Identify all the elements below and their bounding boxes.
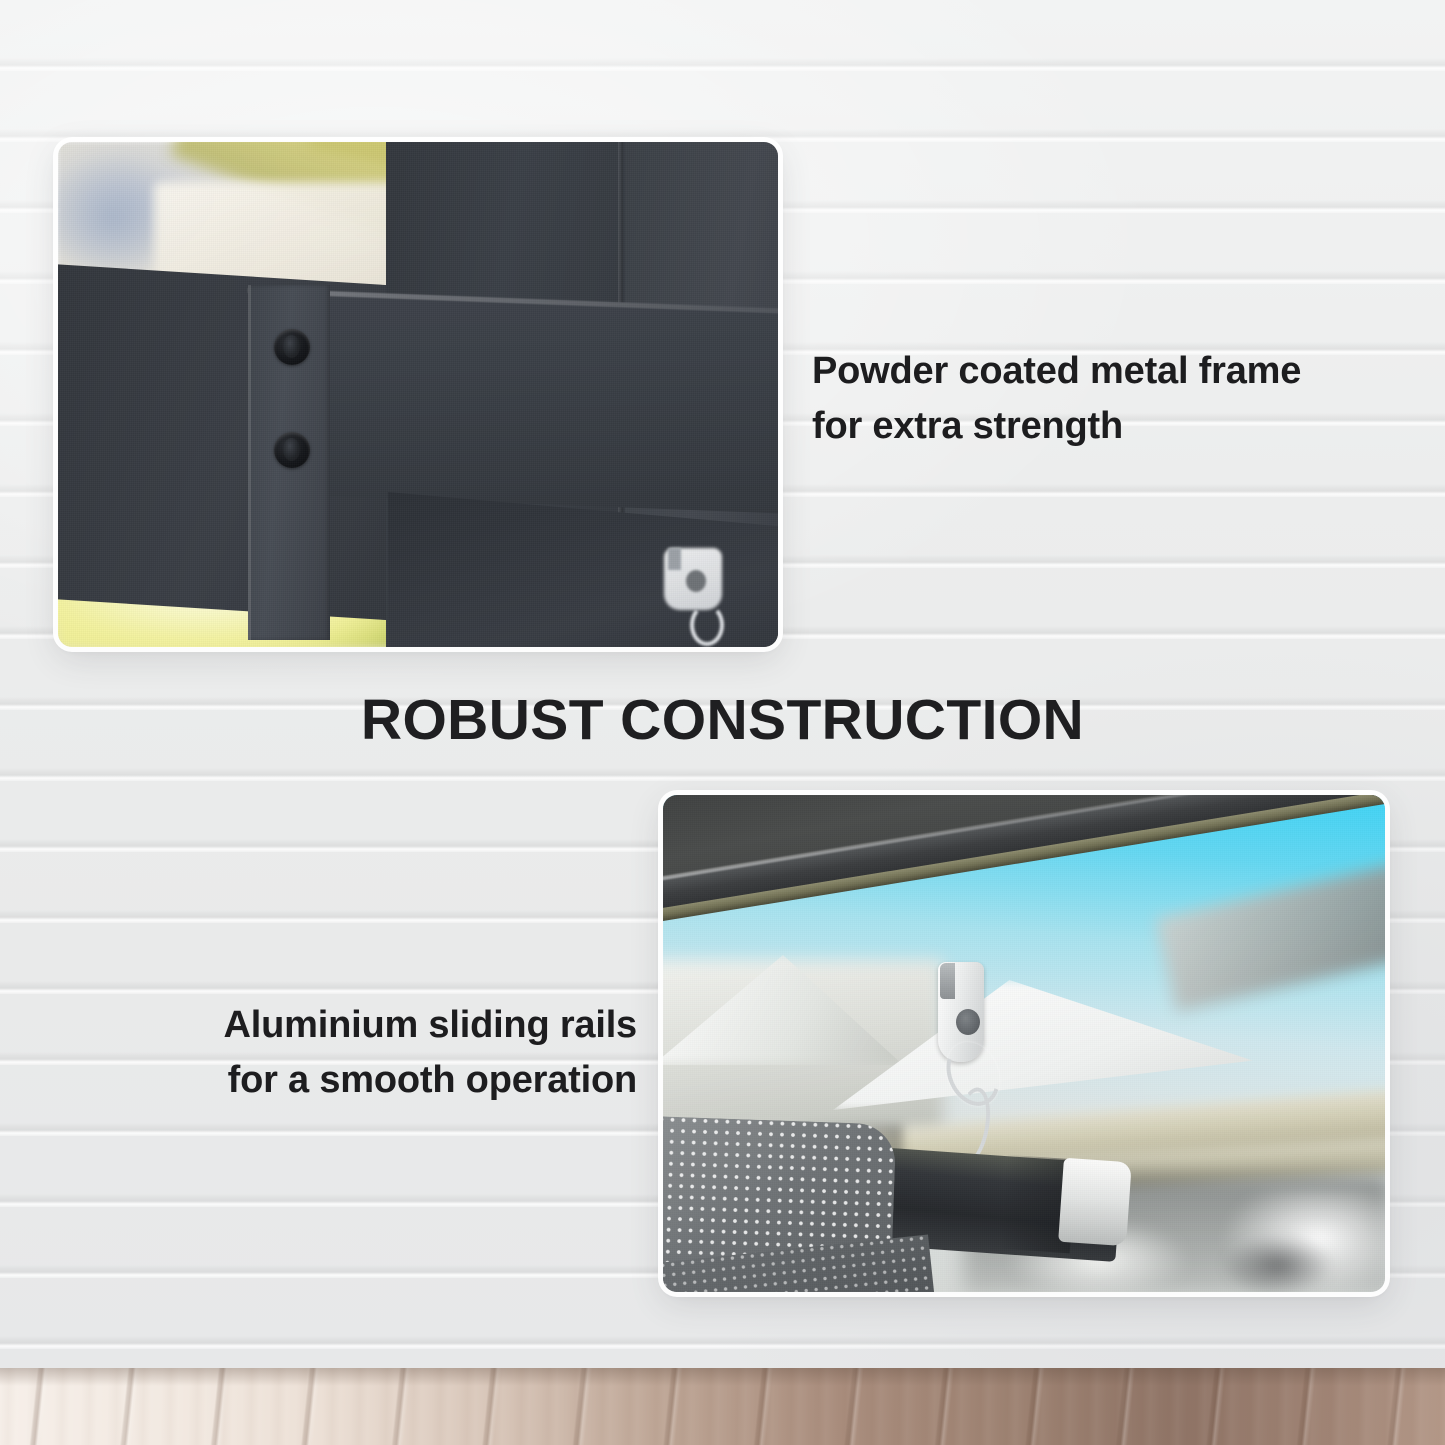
wood-deck-floor: [0, 1368, 1445, 1445]
bracket-bolt-upper: [274, 329, 310, 365]
photo-aluminium-sliding-rails: [663, 795, 1385, 1292]
rail-glider-hole-blurred: [686, 570, 706, 592]
feature-caption-aluminium-sliding-rails: Aluminium sliding rails for a smooth ope…: [224, 998, 637, 1108]
rail-glider-notch-blurred: [668, 548, 681, 570]
blurred-dark-furniture: [1223, 1235, 1333, 1292]
feature-caption-powder-coated-frame: Powder coated metal frame for extra stre…: [812, 344, 1301, 454]
infographic-canvas: Powder coated metal frame for extra stre…: [0, 0, 1445, 1445]
canopy-rod-end-cap: [1058, 1158, 1132, 1247]
deck-wall-shadow: [0, 1368, 1445, 1386]
glider-notch: [940, 963, 955, 999]
hook-blurred: [690, 604, 724, 646]
bracket-plate-edge: [248, 285, 251, 640]
photo-powder-coated-frame: [58, 142, 778, 647]
page-title: ROBUST CONSTRUCTION: [0, 687, 1445, 753]
bracket-bolt-lower: [274, 432, 310, 468]
glider-hole: [956, 1009, 980, 1035]
